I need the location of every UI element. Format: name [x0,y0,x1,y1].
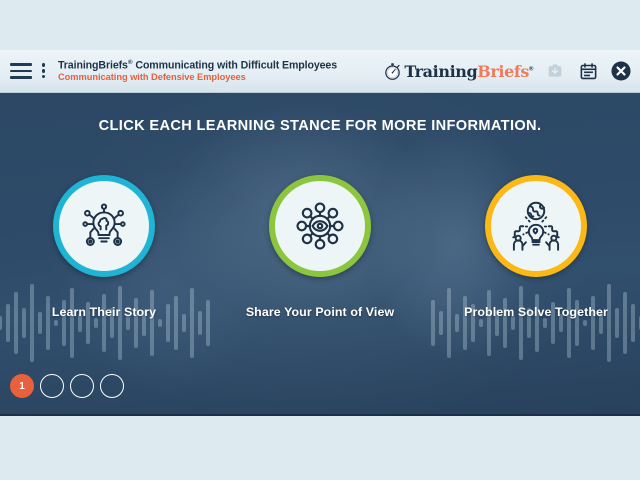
logo-wordmark: TrainingBriefs® [404,62,533,81]
lesson-stage: CLICK EACH LEARNING STANCE FOR MORE INFO… [0,93,640,415]
logo-text-training: Training [404,62,477,81]
stance-learn-their-story[interactable]: Learn Their Story [39,175,169,319]
logo-text-briefs: Briefs [477,62,529,81]
header-titles: TrainingBriefs® Communicating with Diffi… [58,59,337,83]
lightbulb-brain-network-icon [73,195,135,257]
kebab-dot [42,75,45,78]
notes-icon[interactable] [577,60,599,82]
trainingbriefs-logo: TrainingBriefs® [383,62,533,81]
kebab-dot [42,69,45,72]
lesson-subtitle: Communicating with Defensive Employees [58,72,337,82]
hamburger-line [10,76,32,79]
stance-1-label: Learn Their Story [52,305,156,319]
logo-registered-mark: ® [529,66,533,72]
stance-share-your-point-of-view[interactable]: Share Your Point of View [255,175,385,319]
people-puzzle-lightbulb-icon [505,195,567,257]
stance-problem-solve-together[interactable]: Problem Solve Together [471,175,601,319]
hamburger-line [10,70,32,73]
kebab-dot [42,63,45,66]
slide-pagination: 1 [10,374,124,398]
stance-3-label: Problem Solve Together [464,305,608,319]
stance-1-circle[interactable] [53,175,155,277]
header-left-group: TrainingBriefs® Communicating with Diffi… [10,59,337,83]
course-title-rest: Communicating with Difficult Employees [133,60,337,72]
learning-stances-group: Learn Their Story [0,175,640,319]
hamburger-line [10,63,32,66]
stance-2-label: Share Your Point of View [246,305,394,319]
course-title: TrainingBriefs® Communicating with Diffi… [58,59,337,72]
more-options-icon[interactable] [41,62,46,79]
eye-network-icon [289,195,351,257]
close-icon[interactable] [610,60,632,82]
elearning-player: TrainingBriefs® Communicating with Diffi… [0,0,640,480]
pagination-dot-4[interactable] [100,374,124,398]
header-right-group: TrainingBriefs® [383,60,632,82]
course-title-brand: TrainingBriefs [58,60,128,72]
stance-3-circle[interactable] [485,175,587,277]
notes-glyph [579,62,598,81]
stopwatch-icon [383,62,402,81]
player-header: TrainingBriefs® Communicating with Diffi… [0,50,640,93]
pagination-dot-2[interactable] [40,374,64,398]
close-glyph [610,60,632,82]
stance-2-circle[interactable] [269,175,371,277]
download-resources-icon[interactable] [544,60,566,82]
stage-bottom-divider [0,414,640,416]
download-glyph [546,62,564,80]
pagination-dot-3[interactable] [70,374,94,398]
pagination-dot-1[interactable]: 1 [10,374,34,398]
stage-instruction: CLICK EACH LEARNING STANCE FOR MORE INFO… [0,118,640,134]
hamburger-menu-icon[interactable] [10,63,32,79]
